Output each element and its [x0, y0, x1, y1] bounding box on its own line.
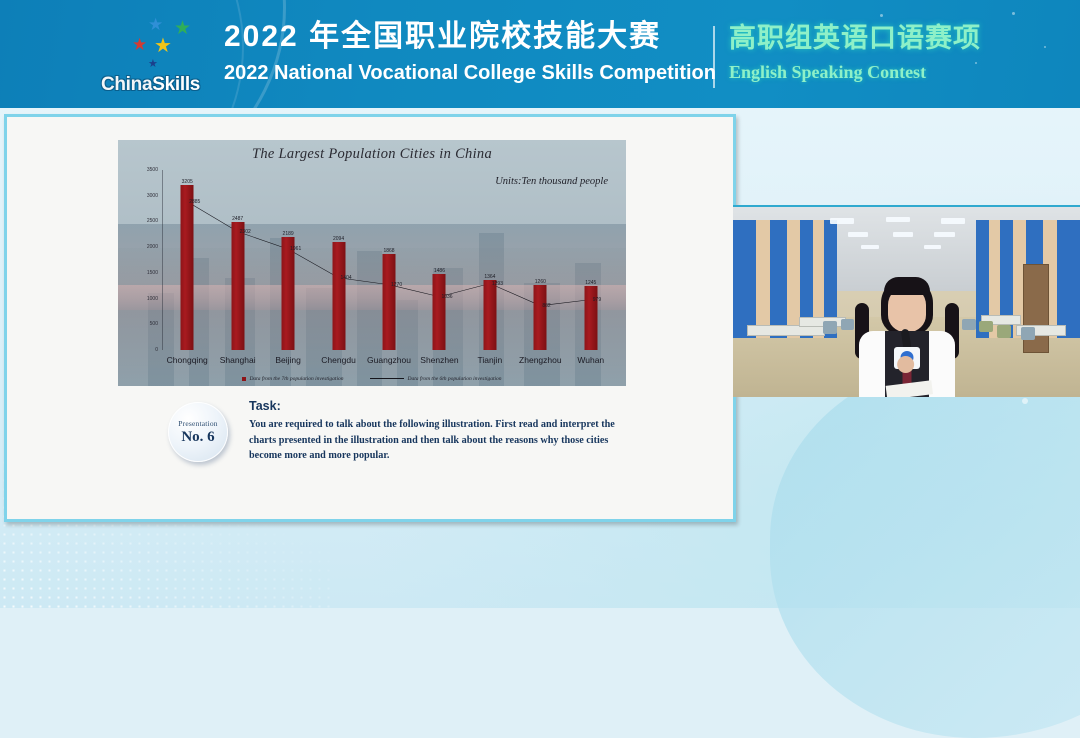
stars-icon: ★ ★ ★ ★ ★ [126, 18, 206, 64]
ceiling-light [941, 218, 965, 224]
event-banner: ★ ★ ★ ★ ★ ChinaSkills 2022 年全国职业院校技能大赛 2… [0, 0, 1080, 108]
chart-title: The Largest Population Cities in China [118, 146, 626, 163]
chart-line-value-label: 1961 [290, 246, 301, 252]
chart-x-tick: Guangzhou [367, 355, 411, 365]
chart-line-value-label: 862 [542, 303, 550, 309]
chinaskills-wordmark: ChinaSkills [88, 74, 213, 96]
legend-line-icon [370, 378, 404, 379]
chart-illustration: The Largest Population Cities in China U… [118, 140, 626, 386]
ceiling-light [886, 217, 910, 223]
task-block: Task: You are required to talk about the… [249, 399, 619, 464]
chart-bar [383, 254, 396, 350]
chart-line-value-label: 2302 [240, 229, 251, 235]
ceiling-light [924, 245, 941, 249]
ceiling-light [934, 232, 955, 237]
chart-x-tick: Wuhan [577, 355, 604, 365]
banner-divider [713, 26, 715, 88]
chart-legend: Data from the 7th population investigati… [118, 376, 626, 382]
chart-y-tick: 2000 [147, 244, 158, 250]
chart-x-tick: Zhengzhou [519, 355, 562, 365]
chart-x-tick: Shenzhen [420, 355, 458, 365]
chart-line-value-label: 1036 [441, 294, 452, 300]
legend-label-7th: Data from the 7th population investigati… [249, 376, 343, 382]
legend-label-6th: Data from the 6th population investigati… [408, 376, 502, 382]
chart-bar [433, 274, 446, 350]
chart-y-tick: 500 [150, 321, 158, 327]
chart-bar-value-label: 1260 [535, 279, 546, 285]
chart-x-tick: Shanghai [220, 355, 256, 365]
chart-bar-value-label: 1868 [383, 248, 394, 254]
chart-bar [584, 286, 597, 350]
chart-line-value-label: 1293 [492, 281, 503, 287]
chart-bar-value-label: 2189 [283, 231, 294, 237]
chart-y-tick: 0 [155, 347, 158, 353]
sparkle-icon [1012, 12, 1015, 15]
chinaskills-logo: ★ ★ ★ ★ ★ ChinaSkills [88, 18, 213, 100]
chart-x-tick: Chongqing [167, 355, 208, 365]
logo-text-china: China [101, 74, 152, 95]
contestant-avatar [847, 277, 967, 397]
chart-plot-area: 0500100015002000250030003500 32052885248… [162, 170, 616, 350]
chart-x-tick: Tianjin [478, 355, 503, 365]
legend-swatch-icon [242, 377, 246, 381]
hand [897, 356, 914, 373]
chart-bar [332, 242, 345, 350]
badge-number: No. 6 [181, 429, 214, 446]
presentation-slide: The Largest Population Cities in China U… [4, 114, 736, 522]
ceiling-light [830, 218, 854, 224]
contestant-video-feed [733, 205, 1080, 397]
chart-bar [181, 185, 194, 350]
logo-text-skills: Skills [152, 74, 200, 95]
chart-bar-value-label: 1245 [585, 280, 596, 286]
chart-line-value-label: 1270 [391, 282, 402, 288]
chart-bar-value-label: 1364 [484, 274, 495, 280]
task-body: You are required to talk about the follo… [249, 417, 619, 464]
video-room-background [733, 207, 1080, 397]
badge-label: Presentation [178, 419, 217, 428]
legend-item-bar: Data from the 7th population investigati… [242, 376, 343, 382]
chart-y-tick: 2500 [147, 218, 158, 224]
task-heading: Task: [249, 399, 619, 413]
chart-line-value-label: 2885 [189, 199, 200, 205]
ceiling-light [893, 232, 914, 237]
chart-y-tick: 1000 [147, 296, 158, 302]
chart-bar-value-label: 2094 [333, 236, 344, 242]
chart-y-tick: 1500 [147, 270, 158, 276]
chart-y-tick: 3000 [147, 193, 158, 199]
video-chair [1021, 327, 1035, 340]
presentation-number-badge: Presentation No. 6 [168, 402, 228, 462]
chart-x-tick: Beijing [275, 355, 301, 365]
chart-bar-value-label: 2487 [232, 216, 243, 222]
video-chair [979, 321, 993, 332]
chart-bar [483, 280, 496, 350]
chart-y-tick: 3500 [147, 167, 158, 173]
chart-bar [282, 237, 295, 350]
chart-bar-value-label: 1486 [434, 268, 445, 274]
banner-subtitle-cn: 高职组英语口语赛项 [729, 22, 1059, 54]
chart-x-tick: Chengdu [321, 355, 356, 365]
chart-bar [534, 285, 547, 350]
banner-subtitle-en: English Speaking Contest [729, 60, 1059, 84]
video-chair [823, 321, 837, 334]
video-chair [997, 325, 1011, 338]
chart-bar-value-label: 3205 [182, 179, 193, 185]
sparkle-icon [880, 14, 883, 17]
chart-line-value-label: 1404 [341, 275, 352, 281]
hair-fringe [884, 277, 930, 295]
legend-item-line: Data from the 6th population investigati… [370, 376, 502, 382]
chart-line-value-label: 979 [593, 297, 601, 303]
ceiling-light [861, 245, 878, 249]
chart-bar [231, 222, 244, 350]
banner-subtitle-zone: 高职组英语口语赛项 English Speaking Contest [729, 22, 1059, 84]
ceiling-light [848, 232, 869, 237]
